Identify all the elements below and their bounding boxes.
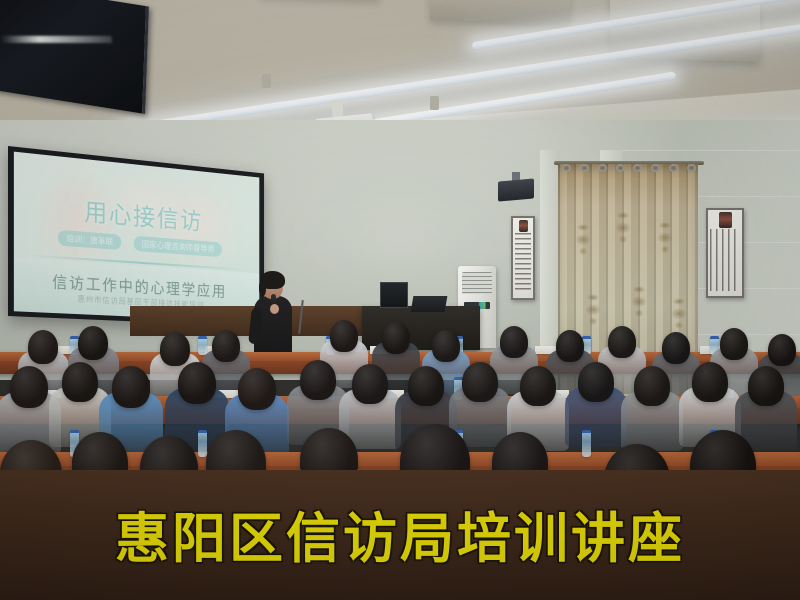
audience-member-head	[382, 322, 410, 354]
poster-portrait	[519, 220, 528, 232]
audience-member-head	[692, 362, 728, 402]
curtain-motif	[668, 296, 690, 330]
tv-glare	[0, 36, 112, 43]
audience-member-head	[330, 320, 358, 352]
audience-member-head	[10, 366, 48, 408]
poster-text-lines	[515, 233, 531, 291]
audience-member-head	[520, 366, 556, 406]
audience-member-head	[78, 326, 108, 360]
curtain-grommet	[598, 164, 607, 172]
audience-member-head	[300, 360, 336, 400]
curtain-motif	[572, 222, 594, 256]
light-clip	[262, 74, 271, 88]
audience-member-head	[28, 330, 58, 364]
audience-member-head	[62, 362, 98, 402]
audience-member-head	[408, 366, 444, 406]
curtain-grommet	[669, 164, 678, 172]
audience-member-head	[432, 330, 460, 362]
lecture-hall-photo: 用心接信访 培训：唐革联 国家心理咨询师督导师 信访工作中的心理学应用 惠州市信…	[0, 0, 800, 600]
presenter-hair-side	[259, 280, 266, 296]
poster-portrait	[719, 212, 732, 228]
curtain-motif	[628, 284, 650, 318]
audience-member-head	[112, 366, 150, 408]
slide-surface: 用心接信访 培训：唐革联 国家心理咨询师督导师 信访工作中的心理学应用 惠州市信…	[14, 152, 259, 323]
water-bottle	[198, 430, 207, 457]
audience-member-head	[608, 326, 636, 358]
audience-member-head	[634, 366, 670, 406]
ceiling-beam	[430, 0, 570, 24]
audience-member-head	[748, 366, 784, 406]
curtain-grommet	[687, 164, 696, 172]
curtain-grommet	[562, 164, 571, 172]
floor	[0, 470, 800, 600]
projection-screen: 用心接信访 培训：唐革联 国家心理咨询师督导师 信访工作中的心理学应用 惠州市信…	[8, 146, 264, 327]
curtain-grommet	[616, 164, 625, 172]
audience-member-head	[768, 334, 796, 366]
curtain-grommet	[633, 164, 642, 172]
podium-laptop-icon	[411, 296, 448, 312]
curtain-motif	[612, 210, 634, 244]
presenter-hand	[270, 304, 279, 314]
audience-member-head	[160, 332, 190, 366]
audience-member-head	[720, 328, 748, 360]
audience-member-head	[352, 364, 388, 404]
water-bottle	[198, 336, 207, 355]
curtain-motif	[582, 292, 604, 326]
curtain-grommet	[651, 164, 660, 172]
ac-vent	[462, 272, 492, 294]
audience-member-head	[212, 330, 240, 362]
audience-member-head	[462, 362, 498, 402]
audience-member-head	[578, 362, 614, 402]
left-wall-poster	[511, 216, 535, 300]
audience-member-head	[178, 362, 216, 404]
audience-member-head	[238, 368, 276, 410]
audience-member-head	[662, 332, 690, 364]
presenter	[246, 274, 304, 364]
curtain-motif	[654, 220, 676, 254]
curtain-grommet	[580, 164, 589, 172]
audience-member-head	[556, 330, 584, 362]
podium-monitor-icon	[380, 282, 408, 308]
light-clip	[430, 96, 439, 110]
right-wall-poster	[706, 208, 744, 298]
audience-member-head	[500, 326, 528, 358]
poster-text-lines	[710, 229, 740, 291]
water-bottle	[582, 430, 591, 457]
curtain-grommet-row	[562, 164, 696, 174]
wall-speaker-icon	[498, 178, 534, 201]
